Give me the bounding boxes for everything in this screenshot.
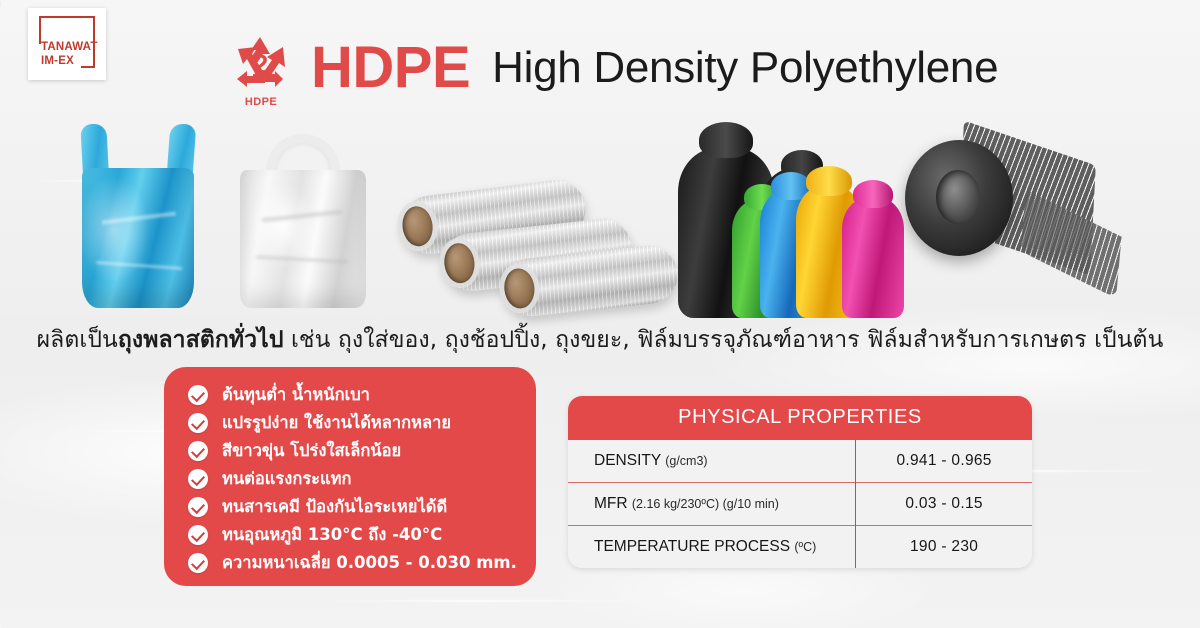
feature-label: สีขาวขุ่น โปร่งใสเล็กน้อย [222,438,401,464]
feature-item: ความหนาเฉลี่ย 0.0005 - 0.030 mm. [188,549,536,576]
property-label: DENSITY [594,452,661,469]
check-circle-icon [188,385,208,405]
properties-grid: DENSITY (g/cm3) 0.941 - 0.965 MFR (2.16 … [568,440,1032,568]
property-unit: (g/cm3) [665,454,707,468]
logo-line-2: IM-EX [41,55,74,67]
check-circle-icon [188,441,208,461]
colored-trash-bags-image [676,104,906,318]
property-value: 0.03 - 0.15 [856,483,1032,526]
feature-label: ทนอุณหภูมิ 130°C ถึง -40°C [222,522,442,548]
recycle-code-number: 2 [254,49,268,79]
check-circle-icon [188,497,208,517]
feature-item: ทนสารเคมี ป้องกันไอระเหยได้ดี [188,493,536,520]
product-caption: ผลิตเป็นถุงพลาสติกทั่วไป เช่น ถุงใส่ของ,… [0,322,1200,358]
check-circle-icon [188,413,208,433]
property-label: MFR [594,495,628,512]
blue-t-shirt-bag-image [68,124,208,309]
material-full-name: High Density Polyethylene [492,46,998,90]
table-row: MFR (2.16 kg/230ºC) (g/10 min) 0.03 - 0.… [568,483,1032,526]
property-value: 0.941 - 0.965 [856,440,1032,483]
feature-item: ต้นทุนต่ำ น้ำหนักเบา [188,381,536,408]
feature-label: ทนต่อแรงกระแทก [222,466,352,492]
texture-streak [300,600,680,602]
caption-suffix: เช่น ถุงใส่ของ, ถุงช้อปปิ้ง, ถุงขยะ, ฟิล… [284,327,1164,353]
feature-item: ทนต่อแรงกระแทก [188,465,536,492]
bag-knot [853,180,893,208]
recycling-symbol-icon: 2 HDPE [225,33,297,109]
logo-text: TANAWAT IM-EX [41,41,103,68]
trash-bag-pink [842,198,904,318]
property-name-cell: TEMPERATURE PROCESS (ºC) [568,526,856,569]
physical-properties-table: PHYSICAL PROPERTIES DENSITY (g/cm3) 0.94… [568,396,1032,568]
feature-label: ความหนาเฉลี่ย 0.0005 - 0.030 mm. [222,550,517,576]
table-row: DENSITY (g/cm3) 0.941 - 0.965 [568,440,1032,483]
property-value: 190 - 230 [856,526,1032,569]
bag-body [82,168,194,308]
check-circle-icon [188,525,208,545]
feature-item: ทนอุณหภูมิ 130°C ถึง -40°C [188,521,536,548]
material-abbreviation: HDPE [311,39,470,97]
property-name-cell: DENSITY (g/cm3) [568,440,856,483]
property-unit: (ºC) [794,540,816,554]
bag-knot [806,166,852,196]
feature-label: แปรรูปง่าย ใช้งานได้หลากหลาย [222,410,451,436]
check-circle-icon [188,553,208,573]
features-panel: ต้นทุนต่ำ น้ำหนักเบา แปรรูปง่าย ใช้งานได… [164,367,536,586]
dark-agricultural-film-roll-image [905,126,1115,306]
company-logo: TANAWAT IM-EX [28,8,106,80]
property-name-cell: MFR (2.16 kg/230ºC) (g/10 min) [568,483,856,526]
feature-item: แปรรูปง่าย ใช้งานได้หลากหลาย [188,409,536,436]
product-image-strip [0,104,1200,314]
check-circle-icon [188,469,208,489]
page-title: 2 HDPE HDPE High Density Polyethylene [225,32,998,110]
bag-knot [699,122,753,158]
bag-body [240,170,366,308]
silver-film-rolls-image [392,182,682,312]
hdpe-infographic-page: TANAWAT IM-EX 2 HDPE HDPE High Density P… [0,0,1200,628]
feature-label: ต้นทุนต่ำ น้ำหนักเบา [222,382,370,408]
feature-item: สีขาวขุ่น โปร่งใสเล็กน้อย [188,437,536,464]
feature-label: ทนสารเคมี ป้องกันไอระเหยได้ดี [222,494,447,520]
properties-title: PHYSICAL PROPERTIES [568,396,1032,440]
caption-prefix: ผลิตเป็น [37,327,118,353]
white-shopping-bag-image [240,128,366,308]
property-label: TEMPERATURE PROCESS [594,538,790,555]
logo-line-1: TANAWAT [41,41,98,53]
property-unit: (2.16 kg/230ºC) (g/10 min) [632,497,779,511]
caption-bold: ถุงพลาสติกทั่วไป [118,327,284,353]
roll-face [905,140,1013,256]
table-row: TEMPERATURE PROCESS (ºC) 190 - 230 [568,526,1032,569]
